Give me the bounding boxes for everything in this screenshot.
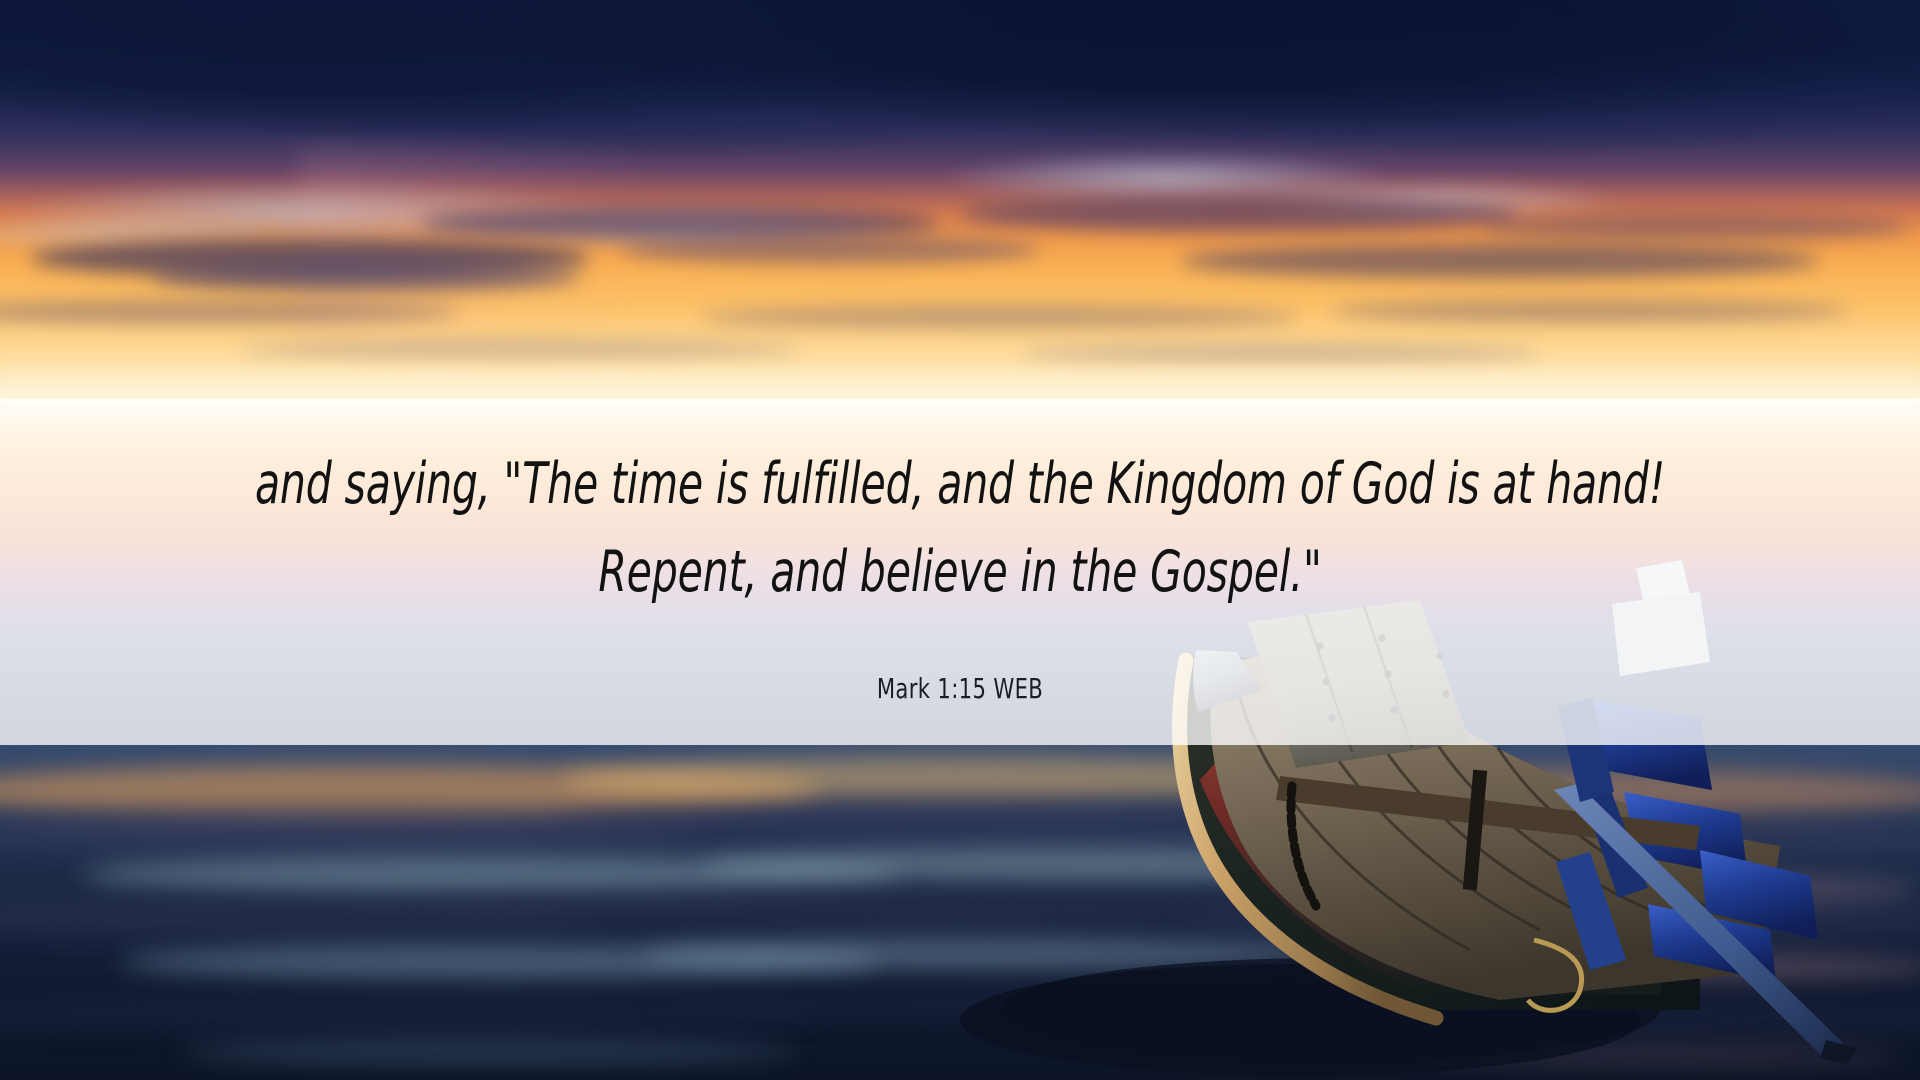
scripture-wallpaper: and saying, "The time is fulfilled, and … xyxy=(0,0,1920,1080)
verse-text-block: and saying, "The time is fulfilled, and … xyxy=(0,440,1920,616)
verse-line-2: Repent, and believe in the Gospel." xyxy=(240,528,1680,616)
verse-line-1: and saying, "The time is fulfilled, and … xyxy=(240,440,1680,528)
verse-reference: Mark 1:15 WEB xyxy=(877,672,1043,705)
oar-blade-lower xyxy=(1820,1040,1858,1064)
verse-attribution: Mark 1:15 WEB xyxy=(0,672,1920,705)
